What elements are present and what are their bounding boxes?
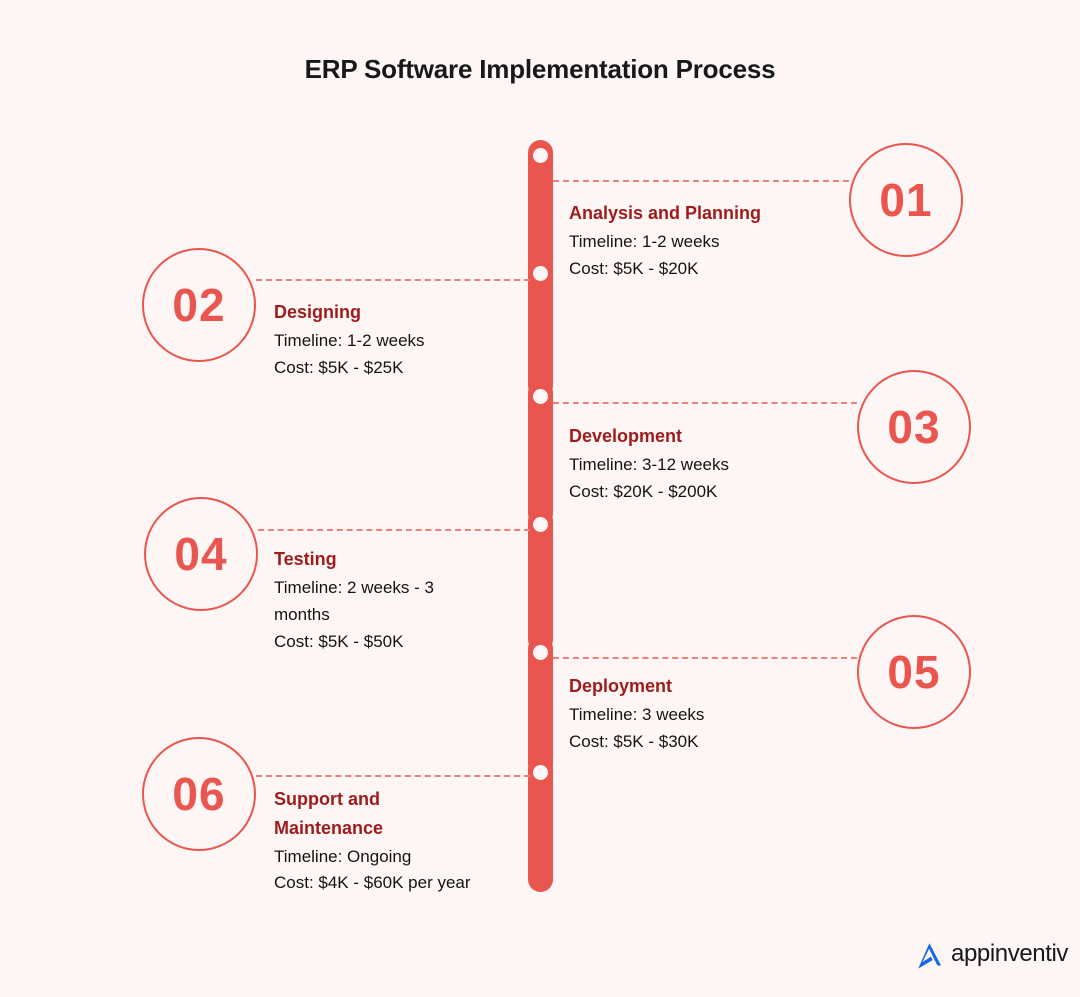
- timeline-node-5: [533, 645, 548, 660]
- appinventiv-arrow-icon: [912, 938, 946, 972]
- step-cost: Cost: $4K - $60K per year: [274, 870, 486, 897]
- timeline-node-3: [533, 389, 548, 404]
- step-cost: Cost: $5K - $50K: [274, 629, 489, 656]
- step-timeline: Timeline: 3 weeks: [569, 702, 839, 729]
- timeline-axis: [528, 140, 553, 892]
- step-heading: Analysis and Planning: [569, 199, 839, 228]
- step-cost: Cost: $5K - $30K: [569, 729, 839, 756]
- step-number-label: 04: [174, 531, 227, 577]
- brand-logo: appinventiv: [912, 938, 1068, 972]
- step-text-06: Support and Maintenance Timeline: Ongoin…: [274, 785, 486, 897]
- page-title: ERP Software Implementation Process: [0, 54, 1080, 85]
- step-number-label: 02: [172, 282, 225, 328]
- step-cost: Cost: $5K - $20K: [569, 256, 839, 283]
- step-text-04: Testing Timeline: 2 weeks - 3 months Cos…: [274, 545, 489, 655]
- step-circle-06[interactable]: 06: [142, 737, 256, 851]
- step-heading: Support and Maintenance: [274, 785, 486, 843]
- connector-line-5: [553, 657, 857, 659]
- step-text-05: Deployment Timeline: 3 weeks Cost: $5K -…: [569, 672, 839, 756]
- step-circle-02[interactable]: 02: [142, 248, 256, 362]
- step-text-03: Development Timeline: 3-12 weeks Cost: $…: [569, 422, 839, 506]
- step-circle-04[interactable]: 04: [144, 497, 258, 611]
- step-timeline: Timeline: Ongoing: [274, 844, 486, 871]
- step-cost: Cost: $20K - $200K: [569, 479, 839, 506]
- step-circle-05[interactable]: 05: [857, 615, 971, 729]
- step-heading: Development: [569, 422, 839, 451]
- step-number-label: 03: [887, 404, 940, 450]
- step-timeline: Timeline: 2 weeks - 3 months: [274, 575, 489, 629]
- step-heading: Designing: [274, 298, 514, 327]
- timeline-node-1: [533, 148, 548, 163]
- step-text-01: Analysis and Planning Timeline: 1-2 week…: [569, 199, 839, 283]
- connector-line-6: [256, 775, 530, 777]
- timeline-node-2: [533, 266, 548, 281]
- step-timeline: Timeline: 3-12 weeks: [569, 452, 839, 479]
- step-text-02: Designing Timeline: 1-2 weeks Cost: $5K …: [274, 298, 514, 382]
- step-circle-01[interactable]: 01: [849, 143, 963, 257]
- step-timeline: Timeline: 1-2 weeks: [274, 328, 514, 355]
- step-number-label: 05: [887, 649, 940, 695]
- connector-line-4: [258, 529, 530, 531]
- connector-line-2: [256, 279, 530, 281]
- erp-implementation-infographic: ERP Software Implementation Process 01 A…: [0, 0, 1080, 997]
- step-heading: Deployment: [569, 672, 839, 701]
- timeline-node-6: [533, 765, 548, 780]
- step-number-label: 01: [879, 177, 932, 223]
- step-circle-03[interactable]: 03: [857, 370, 971, 484]
- brand-name: appinventiv: [951, 942, 1068, 968]
- connector-line-3: [553, 402, 857, 404]
- step-timeline: Timeline: 1-2 weeks: [569, 229, 839, 256]
- step-number-label: 06: [172, 771, 225, 817]
- timeline-node-4: [533, 517, 548, 532]
- step-heading: Testing: [274, 545, 489, 574]
- step-cost: Cost: $5K - $25K: [274, 355, 514, 382]
- connector-line-1: [553, 180, 849, 182]
